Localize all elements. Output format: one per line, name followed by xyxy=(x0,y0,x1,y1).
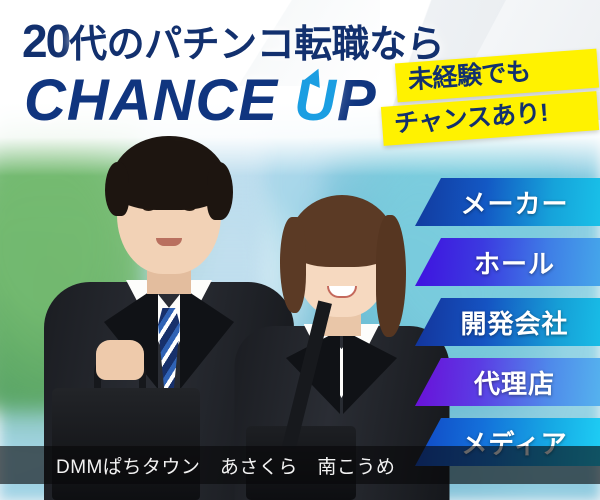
category-agency[interactable]: 代理店 xyxy=(415,358,600,406)
man-hand xyxy=(96,340,144,380)
category-maker[interactable]: メーカー xyxy=(415,178,600,226)
headline-number: 20 xyxy=(22,15,69,67)
credit-bar: DMMぱちタウン あさくら 南こうめ xyxy=(0,446,600,484)
logo-letter-u: U xyxy=(294,72,337,130)
badge-no-experience: 未経験でも チャンスあり! xyxy=(382,56,598,137)
headline: 20代のパチンコ転職なら xyxy=(22,18,444,64)
category-developer[interactable]: 開発会社 xyxy=(415,298,600,346)
credit-text: DMMぱちタウン あさくら 南こうめ xyxy=(0,452,395,479)
category-label: 代理店 xyxy=(460,364,555,401)
man-hair xyxy=(110,136,228,210)
logo-letter-p: P xyxy=(337,68,377,133)
category-label: 開発会社 xyxy=(446,304,568,341)
category-label: ホール xyxy=(460,244,555,281)
woman-hair xyxy=(288,195,396,267)
category-list: メーカー ホール 開発会社 代理店 メディア xyxy=(415,178,600,478)
category-hall[interactable]: ホール xyxy=(415,238,600,286)
logo-chance-up: CHANCEUP xyxy=(24,72,377,130)
logo-word-chance: CHANCE xyxy=(24,68,278,133)
woman-mouth xyxy=(327,286,357,298)
ad-banner[interactable]: 20代のパチンコ転職なら CHANCEUP 未経験でも チャンスあり! メーカー… xyxy=(0,0,600,500)
man-mouth xyxy=(156,238,182,246)
category-label: メーカー xyxy=(446,184,568,221)
